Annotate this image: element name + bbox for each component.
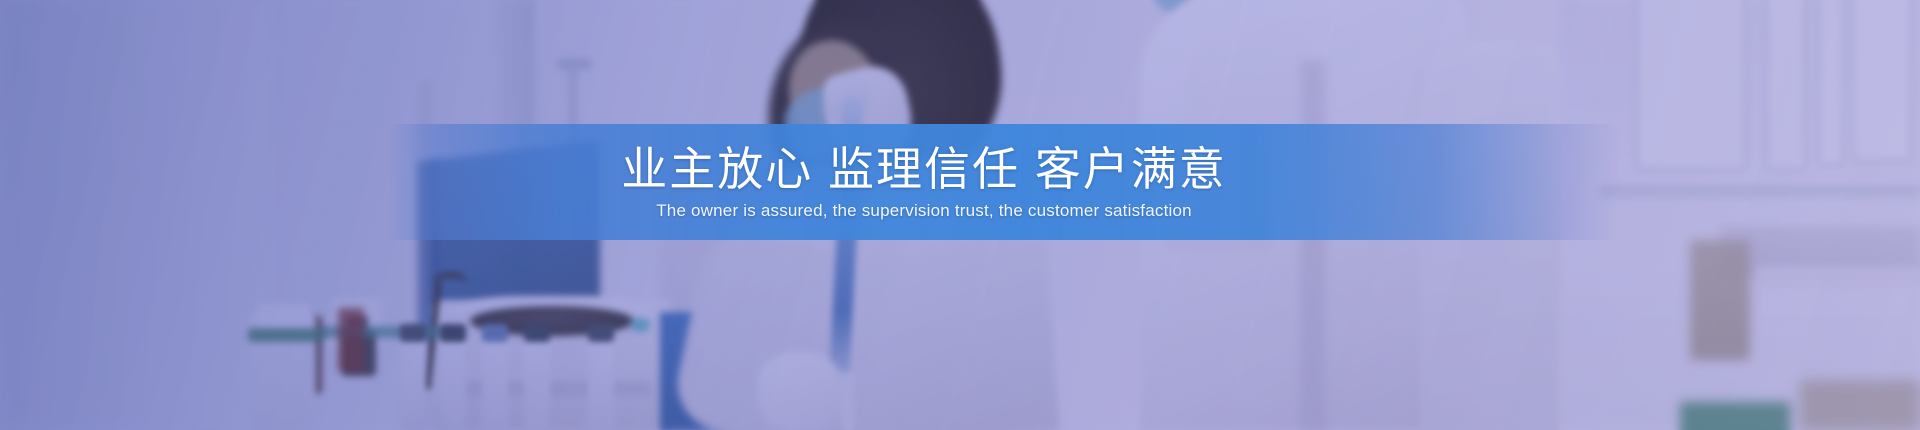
banner-subheadline: The owner is assured, the supervision tr… xyxy=(656,202,1192,219)
hero-banner: 业主放心 监理信任 客户满意 The owner is assured, the… xyxy=(0,0,1920,430)
banner-copy: 业主放心 监理信任 客户满意 The owner is assured, the… xyxy=(388,124,1620,240)
banner-headline: 业主放心 监理信任 客户满意 xyxy=(621,146,1227,192)
